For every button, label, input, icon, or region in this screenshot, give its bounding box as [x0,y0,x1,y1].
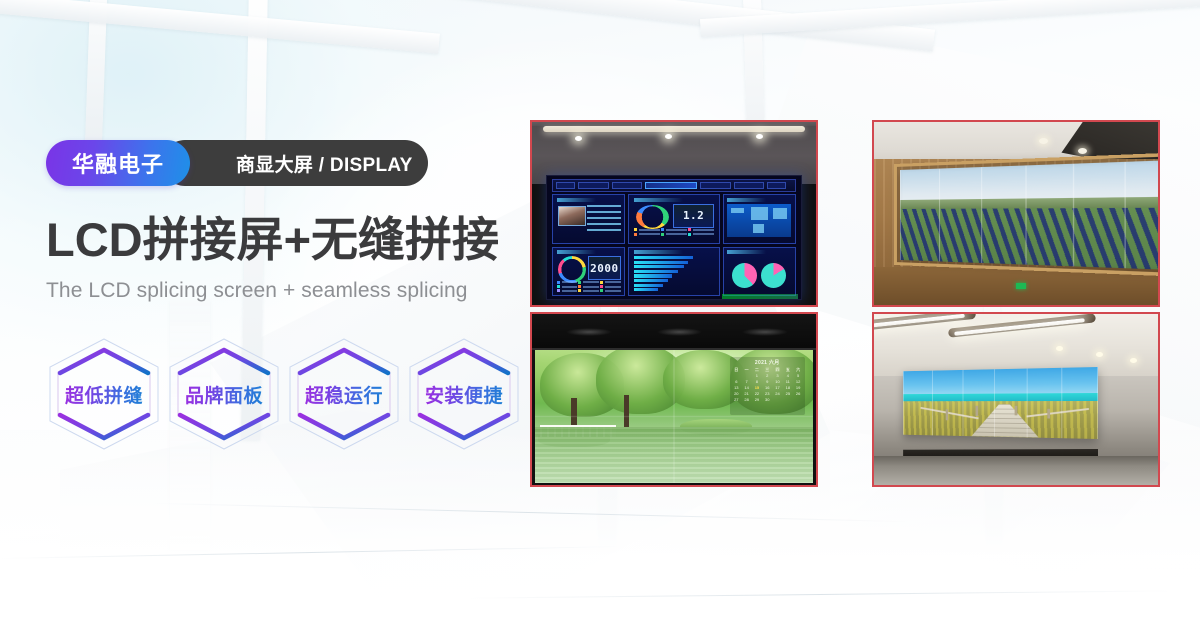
toolbar-active-tab [645,182,697,189]
calendar-day: 11 [783,379,792,384]
legend-item [634,232,660,235]
legend-item [661,232,687,235]
floor-reflection-line [150,503,910,523]
card-text-lines [587,205,621,232]
ceiling-spotlight [756,134,763,139]
product-photo-solar-wall [872,120,1160,307]
flow-node [731,208,744,213]
dashboard-toolbar [552,179,795,192]
calendar-day: 16 [763,385,772,390]
tree-trunk [624,395,630,427]
ceiling [874,314,1158,376]
toolbar-chip [556,182,575,189]
toolbar-chip [612,182,643,189]
bar [634,288,658,291]
calendar-day: 7 [742,379,751,384]
calendar-day: 24 [773,391,782,396]
calendar-day: 26 [793,391,802,396]
feature-label: 超低拼缝 [65,381,143,408]
dashboard-card-bars [628,247,719,296]
calendar-weekday: 四 [773,367,782,372]
kpi-value: 1.2 [683,209,704,222]
calendar-day: 22 [752,391,761,396]
donut-chart [636,205,668,230]
calendar-day: 4 [783,373,792,378]
calendar-day: 1 [752,373,761,378]
screen-content-lake: 2021 六月 日 一 二 三 四 五 六 1 2 3 4 [535,350,813,483]
water-reflection [535,427,813,483]
category-badge: 商显大屏 / DISPLAY [162,140,428,186]
bar [634,265,684,268]
background-pillar [85,0,108,145]
tree-trunk [571,398,577,427]
calendar-title: 2021 六月 [732,359,803,366]
calendar-widget: 2021 六月 日 一 二 三 四 五 六 1 2 3 4 [730,357,805,416]
headline-block: 商显大屏 / DISPLAY 华融电子 LCD拼接屏+无缝拼接 The LCD … [46,140,516,303]
bar [634,256,693,259]
calendar-day: 19 [793,385,802,390]
calendar-weekday: 二 [752,367,761,372]
legend-item [578,285,599,288]
legend-item [600,280,621,283]
dashboard-card-donut-kpi: 1.2 [628,194,719,243]
brand-badge: 商显大屏 / DISPLAY 华融电子 [46,140,380,186]
legend-item [688,228,714,231]
calendar-day [732,373,741,378]
dashboard-footer-ticker [722,294,798,299]
wall-frame-trim [894,152,1158,277]
calendar-day: 18 [783,385,792,390]
calendar-day: 30 [763,397,772,402]
lake-water [535,427,813,483]
card-thumbnail [558,206,586,226]
chart-legend [634,228,714,240]
legend-item [688,232,714,235]
feature-hex-4: 安装便捷 [404,336,524,452]
card-title-bar [634,198,683,202]
ceiling-downlight [1096,352,1103,357]
calendar-day: 2 [763,373,772,378]
dashboard-grid: 1.2 [552,194,795,296]
bar [634,279,668,282]
toolbar-chip [700,182,731,189]
calendar-grid: 日 一 二 三 四 五 六 1 2 3 4 5 6 [732,367,803,402]
toolbar-chip [578,182,609,189]
ceiling-downlight [1056,346,1063,351]
video-wall-screen: 1.2 [546,175,802,299]
kpi-panel: 2000 [588,256,621,280]
calendar-day: 8 [752,379,761,384]
calendar-day: 3 [773,373,782,378]
calendar-weekday: 三 [763,367,772,372]
railing-post [975,406,978,415]
company-badge: 华融电子 [46,140,190,186]
bezel-reflection [742,328,787,337]
background-beam [700,0,1200,37]
ceiling-downlight [1130,358,1137,363]
calendar-day: 27 [732,397,741,402]
railing-post [1014,406,1017,415]
exit-sign-icon [1016,283,1026,289]
ceiling-light-band [543,126,804,132]
chart-legend [557,280,621,292]
banner-root: 商显大屏 / DISPLAY 华融电子 LCD拼接屏+无缝拼接 The LCD … [0,0,1200,640]
feature-hex-2: 品牌面板 [164,336,284,452]
card-title-bar [634,250,683,254]
calendar-weekday: 五 [783,367,792,372]
legend-item [634,228,660,231]
page-subtitle: The LCD splicing screen + seamless splic… [46,279,516,303]
card-title-bar [557,250,596,254]
product-photo-dashboard: 1.2 [530,120,818,307]
calendar-day: 21 [742,391,751,396]
card-title-bar [727,250,766,254]
pie-chart-group [726,261,791,289]
flow-node [751,207,768,220]
railing-post [946,409,948,419]
ceiling-downlight [1078,148,1087,154]
calendar-day: 29 [752,397,761,402]
railing-post [1047,408,1050,418]
background-glow-center [230,30,870,590]
calendar-weekday: 六 [793,367,802,372]
dashboard-card-pies [723,247,796,296]
bar [634,261,689,264]
feature-list: 超低拼缝 品牌面板 超稳运行 [44,336,524,452]
card-title-bar [727,198,766,202]
legend-item [557,289,578,292]
legend-item [661,228,687,231]
calendar-day: 23 [763,391,772,396]
donut-chart [558,256,586,282]
feature-label: 安装便捷 [425,381,503,408]
dashboard-card-intro [552,194,625,243]
bezel-reflection [657,328,702,337]
legend-item [600,285,621,288]
calendar-day [742,373,751,378]
top-bezel [532,314,816,350]
ceiling-spotlight [575,136,582,141]
feature-label: 超稳运行 [305,381,383,408]
background-beam [0,0,440,54]
calendar-weekday: 一 [742,367,751,372]
calendar-day: 20 [732,391,741,396]
bar-chart [634,256,714,291]
pie-chart [761,263,786,288]
legend-item [557,285,578,288]
flow-node [773,208,787,219]
legend-item [578,280,599,283]
legend-item [600,289,621,292]
bar [634,284,663,287]
flow-diagram [727,204,791,237]
kpi-value: 2000 [590,262,619,275]
page-title: LCD拼接屏+无缝拼接 [46,214,516,267]
ceiling-spotlight [665,134,672,139]
calendar-day: 5 [793,373,802,378]
toolbar-chip [734,182,765,189]
calendar-day: 12 [793,379,802,384]
calendar-day: 6 [732,379,741,384]
pie-chart [732,263,757,288]
calendar-day-today: 15 [752,385,761,390]
legend-item [557,280,578,283]
video-wall-beach [903,367,1098,439]
bezel-reflection [566,328,611,337]
calendar-day: 9 [763,379,772,384]
dashboard-card-donut2: 2000 [552,247,625,296]
card-title-bar [557,198,596,202]
calendar-day: 13 [732,385,741,390]
dashboard-card-flow [723,194,796,243]
background-beam [237,0,935,52]
calendar-day: 25 [783,391,792,396]
bar [634,270,678,273]
calendar-day: 28 [742,397,751,402]
legend-item [578,289,599,292]
feature-label: 品牌面板 [185,381,263,408]
floor-reflection-line [0,546,620,559]
feature-hex-3: 超稳运行 [284,336,404,452]
lobby-floor [874,456,1158,485]
product-photo-beach-wall [872,312,1160,487]
feature-hex-1: 超低拼缝 [44,336,164,452]
floor-reflection-line [470,590,1170,598]
toolbar-chip [767,182,786,189]
calendar-day: 14 [742,385,751,390]
product-photo-willow-lake: 2021 六月 日 一 二 三 四 五 六 1 2 3 4 [530,312,818,487]
calendar-day: 10 [773,379,782,384]
kpi-panel: 1.2 [673,204,714,228]
calendar-weekday: 日 [732,367,741,372]
flow-node [753,224,765,233]
calendar-day: 17 [773,385,782,390]
ceiling-strip [532,122,816,126]
bar [634,274,673,277]
